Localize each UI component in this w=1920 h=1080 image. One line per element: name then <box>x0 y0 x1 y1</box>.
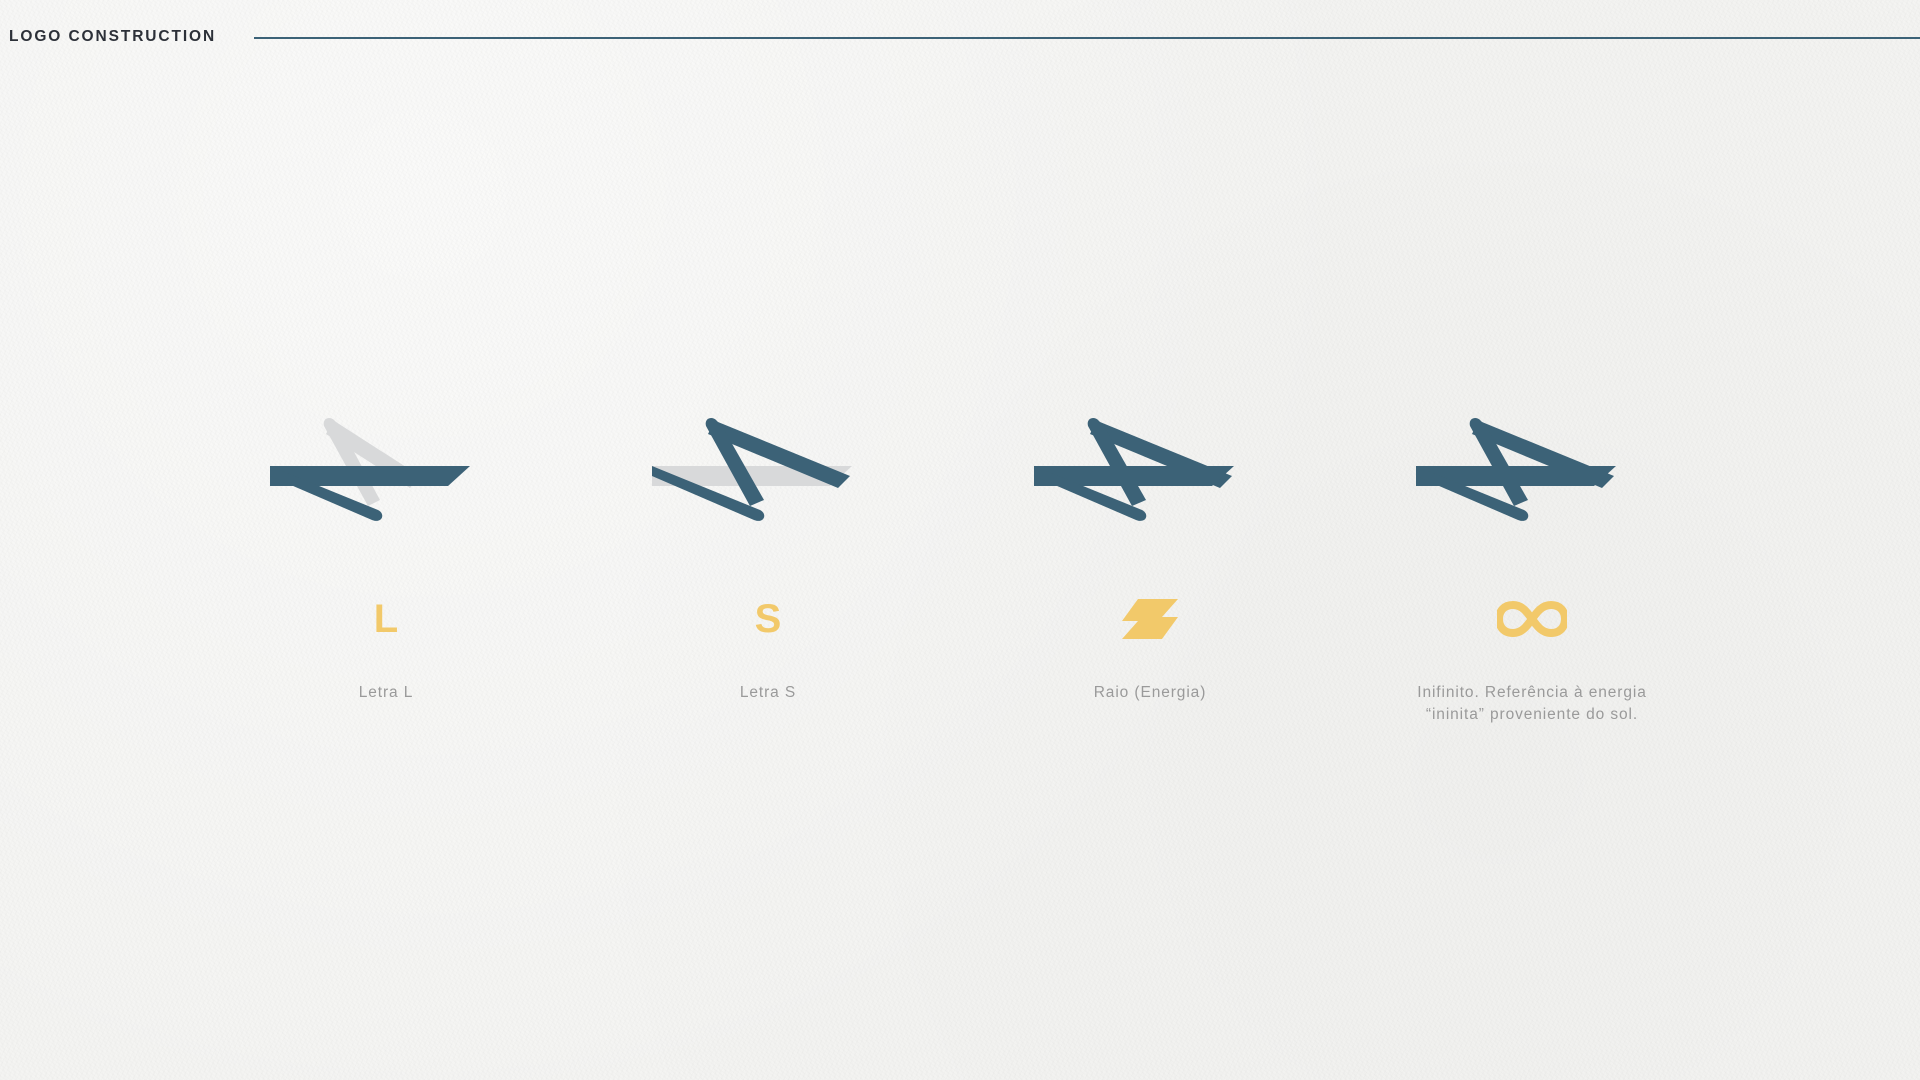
logo-mark-bolt <box>1020 408 1280 538</box>
symbol-container <box>1497 580 1567 658</box>
logo-mark-letter-l <box>256 408 516 538</box>
caption-text: Letra S <box>740 682 796 704</box>
construction-column: Inifinito. Referência à energia “ininita… <box>1341 408 1723 727</box>
lightning-bolt-icon <box>1121 598 1179 640</box>
slide-header: LOGO CONSTRUCTION <box>0 22 1920 52</box>
logo-mark-infinity <box>1402 408 1662 538</box>
logo-mark-letter-s <box>638 408 898 538</box>
symbol-container: S <box>755 580 782 658</box>
header-divider-rule <box>254 37 1920 39</box>
caption-text: Raio (Energia) <box>1094 682 1207 704</box>
construction-column: Raio (Energia) <box>959 408 1341 727</box>
construction-column: S Letra S <box>577 408 959 727</box>
symbol-container <box>1121 580 1179 658</box>
caption-text: Letra L <box>359 682 414 704</box>
construction-column: L Letra L <box>195 408 577 727</box>
letter-l-symbol: L <box>374 599 398 639</box>
caption-text: Inifinito. Referência à energia “ininita… <box>1407 682 1657 727</box>
page-title: LOGO CONSTRUCTION <box>0 28 216 46</box>
letter-s-symbol: S <box>755 599 782 639</box>
construction-columns: L Letra L S Letra S <box>195 408 1725 727</box>
slide-logo-construction: LOGO CONSTRUCTION L Letra L <box>0 0 1920 1080</box>
infinity-icon <box>1497 599 1567 639</box>
symbol-container: L <box>374 580 398 658</box>
